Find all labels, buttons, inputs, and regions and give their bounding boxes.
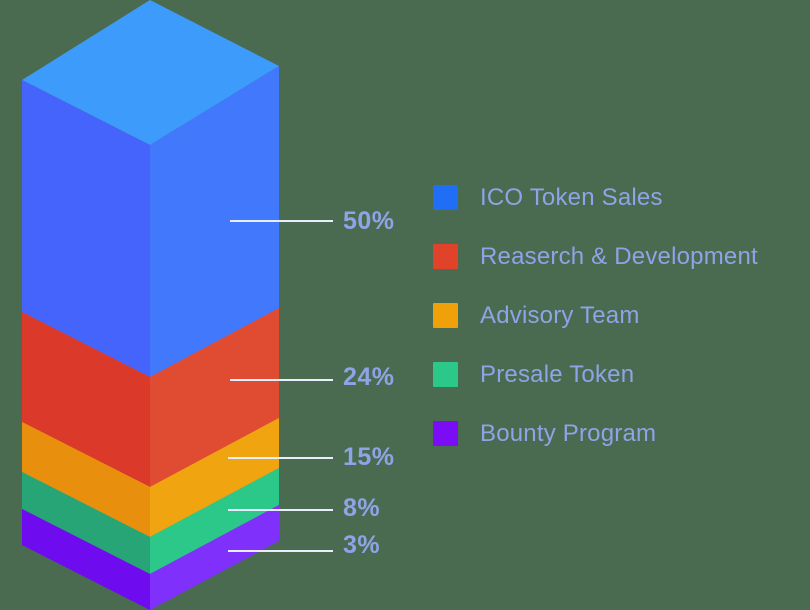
legend-item-ico-token-sales[interactable]: ICO Token Sales	[433, 168, 803, 227]
chart-canvas: 50% 24% 15% 8% 3% ICO Token Sales Reaser…	[0, 0, 810, 610]
legend-swatch-icon-bounty-program	[433, 421, 458, 446]
value-label-presale-token: 8%	[343, 496, 380, 521]
value-label-bounty-program: 3%	[343, 533, 380, 558]
legend-label-advisory-team: Advisory Team	[480, 304, 640, 328]
value-label-advisory-team: 15%	[343, 445, 395, 470]
legend-swatch-icon-presale-token	[433, 362, 458, 387]
legend-swatch-icon-advisory-team	[433, 303, 458, 328]
legend-item-advisory-team[interactable]: Advisory Team	[433, 286, 803, 345]
chart-legend: ICO Token Sales Reaserch & Development A…	[433, 168, 803, 463]
legend-label-presale-token: Presale Token	[480, 363, 634, 387]
legend-swatch-icon-research-development	[433, 244, 458, 269]
legend-swatch-icon-ico-token-sales	[433, 185, 458, 210]
legend-item-research-development[interactable]: Reaserch & Development	[433, 227, 803, 286]
legend-item-bounty-program[interactable]: Bounty Program	[433, 404, 803, 463]
legend-item-presale-token[interactable]: Presale Token	[433, 345, 803, 404]
legend-label-ico-token-sales: ICO Token Sales	[480, 186, 663, 210]
legend-label-bounty-program: Bounty Program	[480, 422, 656, 446]
value-label-research-development: 24%	[343, 365, 395, 390]
legend-label-research-development: Reaserch & Development	[480, 245, 758, 269]
value-label-ico-token-sales: 50%	[343, 209, 395, 234]
